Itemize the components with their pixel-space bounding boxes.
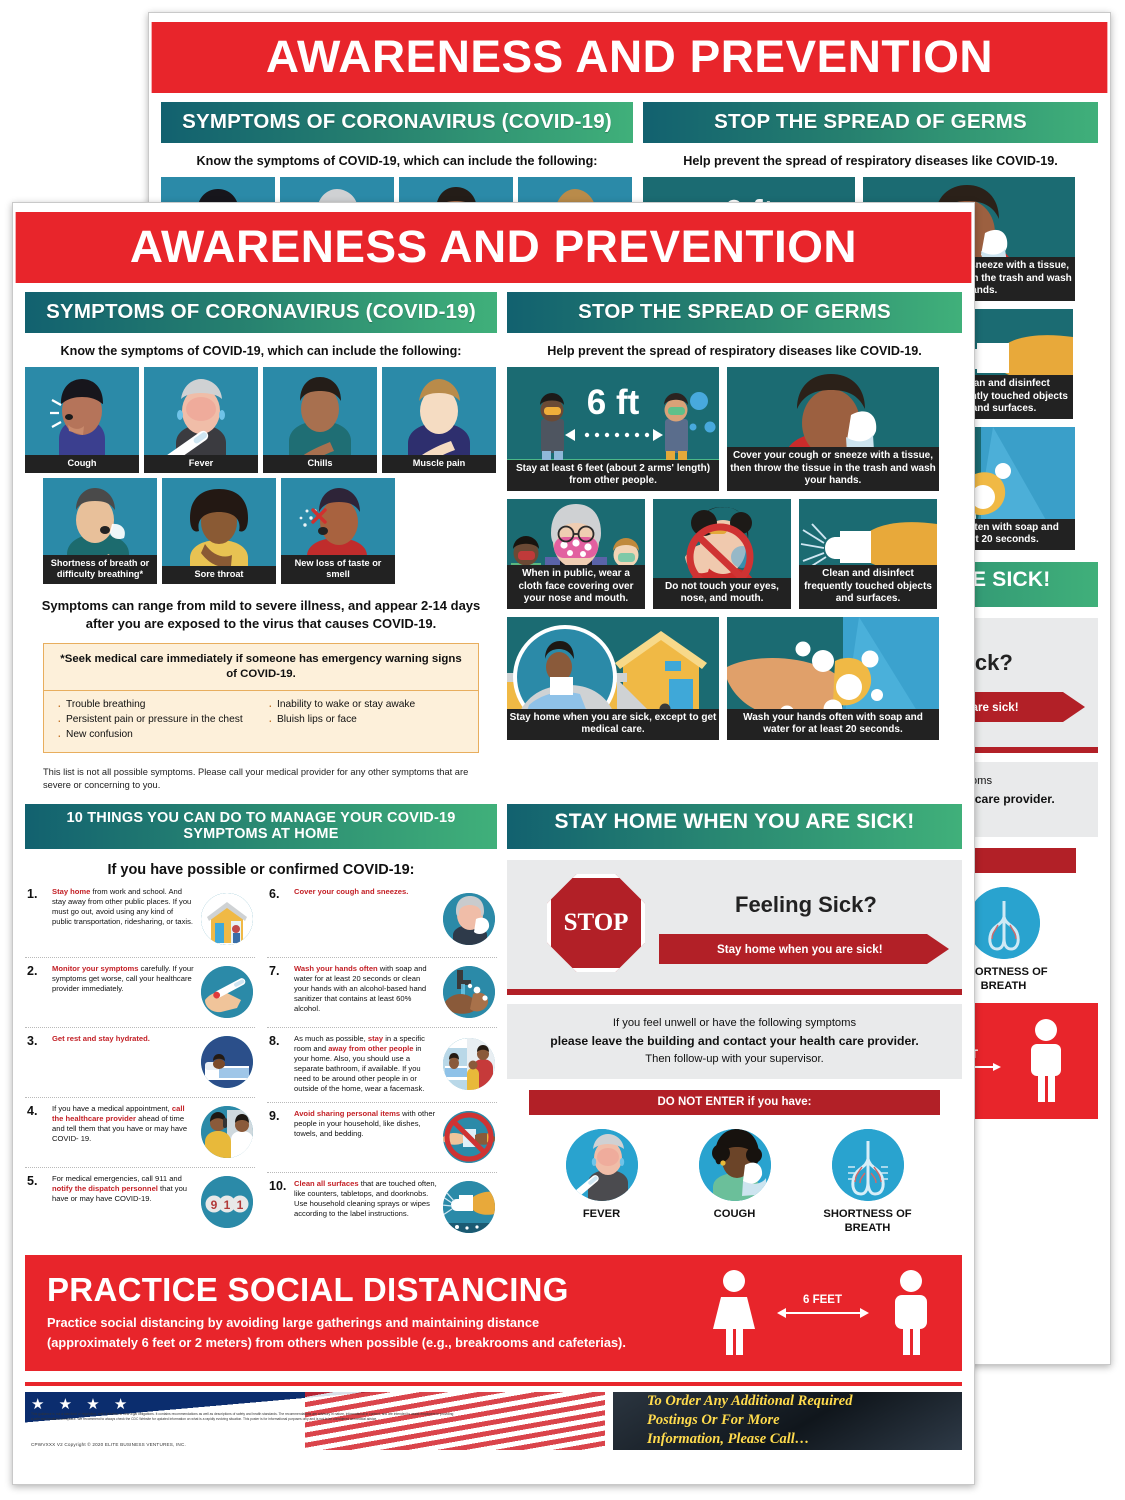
phone-doctor-icon (201, 1106, 253, 1158)
ten-item-text: If you have a medical appointment, call … (52, 1104, 195, 1160)
sd-line-1: Practice social distancing by avoiding l… (47, 1313, 705, 1332)
footer-top-rule (25, 1382, 962, 1386)
germ-caption: Wash your hands often with soap and wate… (727, 709, 939, 740)
order-line-3: Information, Please Call… (647, 1430, 852, 1449)
unwell-line2: please leave the building and contact yo… (550, 1034, 918, 1048)
svg-text:1: 1 (237, 1198, 244, 1212)
germs-intro: Help prevent the spread of respiratory d… (507, 344, 962, 358)
ten-item-number: 7. (269, 964, 288, 1020)
ten-item-3: 3. Get rest and stay hydrated. (25, 1027, 255, 1097)
stop-sign-icon: STOP (547, 874, 645, 972)
germ-caption: Cover your cough or sneeze with a tissue… (727, 447, 939, 491)
warning-list-right: Inability to wake or stay awake Bluish l… (265, 698, 468, 743)
order-info-block: To Order Any Additional Required Posting… (613, 1392, 962, 1450)
lower-section-headers: 10 THINGS YOU CAN DO TO MANAGE YOUR COVI… (25, 804, 962, 849)
ten-item-7: 7. Wash your hands often with soap and w… (267, 957, 497, 1027)
ten-item-8: 8. As much as possible, stay in a specif… (267, 1027, 497, 1102)
social-distancing-text: Practice social distancing by avoiding l… (47, 1313, 705, 1351)
ten-things-lead: If you have possible or confirmed COVID-… (25, 862, 497, 878)
no-sharing-items-icon (443, 1111, 495, 1163)
cough-person-icon (699, 1129, 771, 1201)
symptom-label: Chills (263, 455, 377, 473)
ten-item-number: 8. (269, 1034, 288, 1095)
germ-caption: When in public, wear a cloth face coveri… (507, 565, 645, 609)
symptoms-header: SYMPTOMS OF CORONAVIRUS (COVID-19) (25, 292, 497, 333)
ten-item-text: Stay home from work and school. And stay… (52, 887, 195, 950)
germ-card-wash-hands: Wash your hands often with soap and wate… (727, 617, 939, 740)
section-headers: SYMPTOMS OF CORONAVIRUS (COVID-19) STOP … (25, 292, 962, 333)
thermometer-hand-icon (201, 966, 253, 1018)
warning-item: New confusion (54, 728, 257, 742)
feeling-sick-panel: STOP Feeling Sick? Stay home when you ar… (507, 860, 962, 989)
symptom-card-sore-throat: Sore throat (162, 478, 276, 584)
dne-symptom-label: FEVER (547, 1208, 657, 1221)
symptom-range-text: Symptoms can range from mild to severe i… (41, 597, 481, 632)
symptom-label: Cough (25, 455, 139, 473)
dne-symptom-cough: COUGH (680, 1129, 790, 1234)
ten-item-text: Monitor your symptoms carefully. If your… (52, 964, 195, 1020)
symptom-label: Sore throat (162, 566, 276, 584)
warning-item: Bluish lips or face (265, 713, 468, 727)
warning-list-left: Trouble breathing Persistent pain or pre… (54, 698, 257, 743)
ten-item-5: 5. For medical emergencies, call 911 and… (25, 1167, 255, 1237)
germ-cards-row1: 6 ft Stay at least 6 feet (about 2 arms'… (507, 367, 962, 491)
symptom-card-loss-taste-smell: New loss of taste or smell (281, 478, 395, 584)
symptom-card-chills: Chills (263, 367, 377, 473)
symptom-label: Shortness of breath or difficulty breath… (43, 555, 157, 584)
social-distancing-banner: PRACTICE SOCIAL DISTANCING Practice soci… (25, 1255, 962, 1371)
ten-item-9: 9. Avoid sharing personal items with oth… (267, 1102, 497, 1172)
foreground-poster: AWARENESS AND PREVENTION SYMPTOMS OF COR… (12, 202, 975, 1485)
germs-header: STOP THE SPREAD OF GERMS (507, 292, 962, 333)
six-ft-badge: 6 ft (587, 383, 640, 422)
do-not-enter-symptom-list: FEVER COUGH SHORTNESS OF BREATH (507, 1129, 962, 1234)
germ-card-cover-cough: Cover your cough or sneeze with a tissue… (727, 367, 939, 491)
ten-things-header: 10 THINGS YOU CAN DO TO MANAGE YOUR COVI… (25, 804, 497, 849)
ten-item-number: 1. (27, 887, 46, 950)
ten-item-number: 4. (27, 1104, 46, 1160)
ten-item-number: 6. (269, 887, 288, 950)
stay-home-arrow-banner: Stay home when you are sick! (659, 934, 949, 964)
fever-thermometer-icon (566, 1129, 638, 1201)
unwell-line3: Then follow-up with your supervisor. (517, 1051, 952, 1068)
svg-text:9: 9 (211, 1198, 218, 1212)
ten-item-text: Avoid sharing personal items with other … (294, 1109, 437, 1165)
germ-card-six-feet: 6 ft Stay at least 6 feet (about 2 arms'… (507, 367, 719, 491)
germ-cards-row3: Stay home when you are sick, except to g… (507, 617, 962, 740)
germ-card-no-face-touch: Do not touch your eyes, nose, and mouth. (653, 499, 791, 609)
ten-item-number: 2. (27, 964, 46, 1020)
ten-item-4: 4. If you have a medical appointment, ca… (25, 1097, 255, 1167)
ten-item-number: 5. (27, 1174, 46, 1230)
symptom-cards-row2: Shortness of breath or difficulty breath… (43, 478, 497, 584)
order-info-text: To Order Any Additional Required Posting… (647, 1392, 852, 1449)
footer-disclaimer-block: ★ ★ ★ ★ This guidance is not a standard … (25, 1392, 605, 1450)
unwell-line1: If you feel unwell or have the following… (517, 1015, 952, 1032)
germ-caption: Stay home when you are sick, except to g… (507, 709, 719, 740)
symptoms-intro: Know the symptoms of COVID-19, which can… (25, 344, 497, 358)
warning-item: Inability to wake or stay awake (265, 698, 468, 712)
germ-caption: Stay at least 6 feet (about 2 arms' leng… (507, 460, 719, 491)
poster-title-back: AWARENESS AND PREVENTION (152, 22, 1108, 93)
symptom-card-shortness-of-breath: Shortness of breath or difficulty breath… (43, 478, 157, 584)
order-line-2: Postings Or For More (647, 1411, 852, 1430)
unwell-instructions: If you feel unwell or have the following… (507, 1004, 962, 1079)
warning-item: Persistent pain or pressure in the chest (54, 713, 257, 727)
lungs-icon-back (968, 887, 1040, 959)
flag-stars-icon: ★ ★ ★ ★ (31, 1395, 132, 1413)
germ-cards-row2: When in public, wear a cloth face coveri… (507, 499, 962, 609)
emergency-warning-box: *Seek medical care immediately if someon… (43, 643, 479, 753)
germ-caption: Do not touch your eyes, nose, and mouth. (653, 578, 791, 609)
ten-item-6: 6. Cover your cough and sneezes. (267, 887, 497, 957)
ten-item-number: 3. (27, 1034, 46, 1090)
ten-things-left-column: 1. Stay home from work and school. And s… (25, 887, 255, 1242)
lungs-icon (832, 1129, 904, 1201)
symptom-card-muscle-pain: Muscle pain (382, 367, 496, 473)
red-divider-rule (507, 989, 962, 995)
dne-symptom-label: COUGH (680, 1208, 790, 1221)
ten-item-2: 2. Monitor your symptoms carefully. If y… (25, 957, 255, 1027)
germ-caption: Clean and disinfect frequently touched o… (799, 565, 937, 609)
symptom-card-fever: Fever (144, 367, 258, 473)
male-figure-icon (882, 1269, 940, 1357)
social-distancing-title: PRACTICE SOCIAL DISTANCING (47, 1273, 705, 1306)
six-feet-label: 6 FEET (803, 1294, 842, 1306)
ten-item-1: 1. Stay home from work and school. And s… (25, 887, 255, 957)
ten-things-right-column: 6. Cover your cough and sneezes. 7. Wash… (267, 887, 497, 1242)
female-figure-icon (705, 1269, 763, 1357)
germ-card-disinfect: Clean and disinfect frequently touched o… (799, 499, 937, 609)
warning-item: Trouble breathing (54, 698, 257, 712)
order-line-1: To Order Any Additional Required (647, 1392, 852, 1411)
symptom-cards-row1: Cough Fever Chills Muscle pain (25, 367, 497, 473)
dne-symptom-label: SHORTNESS OF BREATH (813, 1208, 923, 1234)
symptoms-note: This list is not all possible symptoms. … (43, 766, 479, 792)
ten-item-text: Cover your cough and sneezes. (294, 887, 437, 950)
dne-symptom-fever: FEVER (547, 1129, 657, 1234)
footer-copyright: CPWVXXX V2 Copyright © 2020 ELITE BUSINE… (31, 1442, 186, 1447)
cleaning-spray-icon (443, 1181, 495, 1233)
svg-text:1: 1 (224, 1198, 231, 1212)
ten-item-10: 10. Clean all surfaces that are touched … (267, 1172, 497, 1242)
separate-room-icon (443, 1038, 495, 1090)
symptom-label: Fever (144, 455, 258, 473)
handwashing-faucet-icon (443, 966, 495, 1018)
symptom-card-cough: Cough (25, 367, 139, 473)
ten-item-text: As much as possible, stay in a specific … (294, 1034, 437, 1095)
person-in-bed-icon (201, 1036, 253, 1088)
ten-item-number: 10. (269, 1179, 288, 1235)
cough-tissue-icon (443, 893, 495, 945)
sd-line-2: (approximately 6 feet or 2 meters) from … (47, 1333, 705, 1352)
feeling-sick-title: Feeling Sick? (735, 892, 877, 918)
ten-item-text: Clean all surfaces that are touched ofte… (294, 1179, 437, 1235)
germ-card-stay-home: Stay home when you are sick, except to g… (507, 617, 719, 740)
footer-disclaimer-text: This guidance is not a standard or regul… (31, 1412, 455, 1422)
ten-item-number: 9. (269, 1109, 288, 1165)
stay-home-header: STAY HOME WHEN YOU ARE SICK! (507, 804, 962, 849)
poster-title: AWARENESS AND PREVENTION (16, 212, 972, 283)
symptom-label: Muscle pain (382, 455, 496, 473)
dne-symptom-shortness-of-breath: SHORTNESS OF BREATH (813, 1129, 923, 1234)
symptoms-header-back: SYMPTOMS OF CORONAVIRUS (COVID-19) (161, 102, 633, 143)
symptoms-intro-back: Know the symptoms of COVID-19, which can… (161, 154, 633, 168)
distance-arrow-icon (777, 1306, 869, 1320)
germs-intro-back: Help prevent the spread of respiratory d… (643, 154, 1098, 168)
house-stay-home-icon (201, 893, 253, 945)
germs-header-back: STOP THE SPREAD OF GERMS (643, 102, 1098, 143)
ten-item-text: For medical emergencies, call 911 and no… (52, 1174, 195, 1230)
section-headers-back: SYMPTOMS OF CORONAVIRUS (COVID-19) STOP … (161, 102, 1098, 143)
ten-item-text: Get rest and stay hydrated. (52, 1034, 195, 1090)
ten-item-text: Wash your hands often with soap and wate… (294, 964, 437, 1020)
germ-card-face-covering: When in public, wear a cloth face coveri… (507, 499, 645, 609)
do-not-enter-banner: DO NOT ENTER if you have: (529, 1090, 940, 1115)
footer: ★ ★ ★ ★ This guidance is not a standard … (25, 1392, 962, 1450)
warning-title: *Seek medical care immediately if someon… (44, 644, 478, 691)
symptom-label: New loss of taste or smell (281, 555, 395, 584)
social-distancing-figures: 6 FEET (705, 1269, 940, 1357)
nine-one-one-icon: 911 (201, 1176, 253, 1228)
